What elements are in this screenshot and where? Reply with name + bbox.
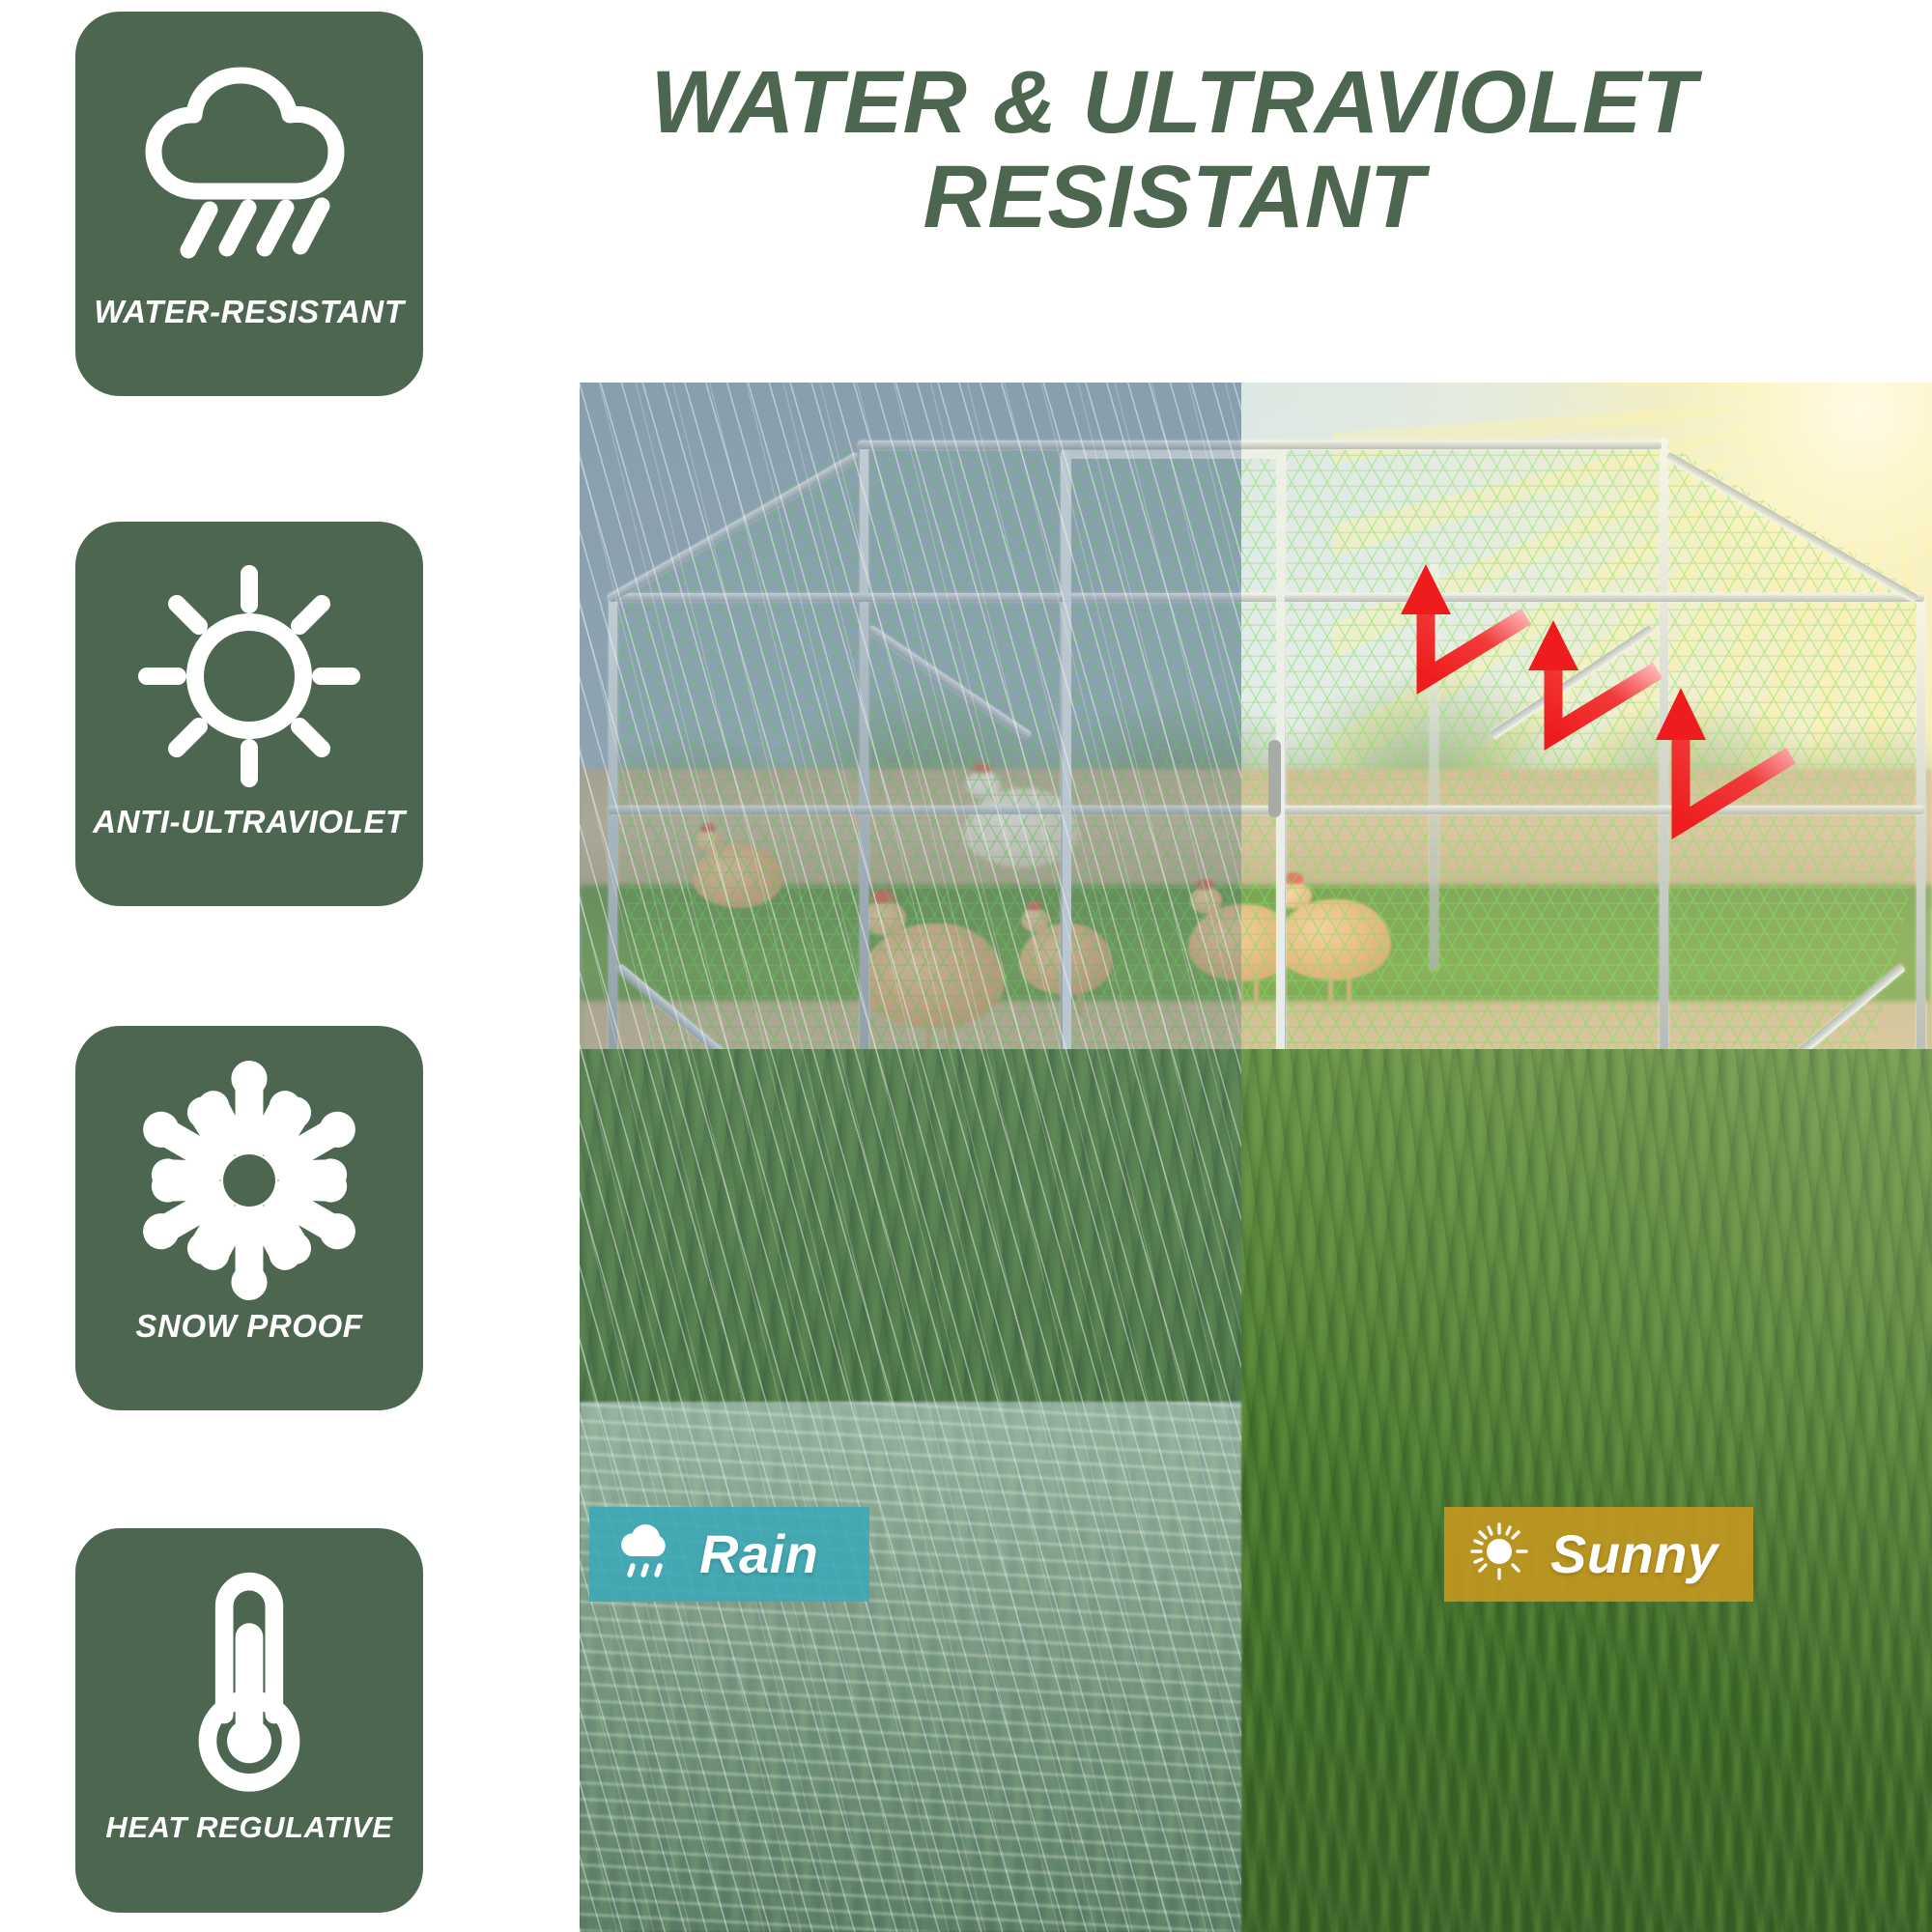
- weather-chip-sunny: Sunny: [1444, 1507, 1753, 1602]
- page-title: WATER & ULTRAVIOLET RESISTANT: [454, 56, 1893, 244]
- rain-cloud-icon: [614, 1521, 678, 1586]
- sun-icon: [120, 554, 379, 798]
- weather-chip-label: Sunny: [1550, 1522, 1719, 1585]
- frame-post: [609, 593, 617, 1088]
- frame-post: [860, 440, 868, 1088]
- frame-post: [1660, 439, 1668, 1088]
- frame-post: [1917, 593, 1925, 1088]
- frame-rail: [858, 440, 1662, 449]
- feature-label: HEAT REGULATIVE: [105, 1810, 392, 1845]
- feature-badge-snow-proof: SNOW PROOF: [75, 1026, 423, 1410]
- door-handle[interactable]: [1268, 740, 1281, 817]
- feature-badge-heat-regulative: HEAT REGULATIVE: [75, 1528, 423, 1913]
- frame-post: [1430, 564, 1438, 970]
- feature-label: SNOW PROOF: [135, 1308, 362, 1345]
- snowflake-icon: [120, 1059, 379, 1302]
- feature-badge-water-resistant: WATER-RESISTANT: [75, 12, 423, 396]
- feature-label: WATER-RESISTANT: [94, 294, 404, 330]
- coop-door[interactable]: [1063, 450, 1285, 1088]
- feature-label: ANTI-ULTRAVIOLET: [93, 804, 406, 840]
- weather-chip-label: Rain: [699, 1522, 818, 1585]
- feature-badge-column: WATER-RESISTANT ANTI-ULTRAVIOLET: [75, 12, 423, 1924]
- feature-badge-anti-ultraviolet: ANTI-ULTRAVIOLET: [75, 522, 423, 906]
- thermometer-icon: [120, 1561, 379, 1804]
- chicken-coop: [580, 421, 1932, 1136]
- product-photo: Rain: [580, 383, 1932, 1932]
- weather-chip-rain: Rain: [589, 1507, 869, 1602]
- foreground-grass: [580, 1049, 1932, 1932]
- rain-cloud-icon: [120, 44, 379, 288]
- sun-icon: [1469, 1521, 1529, 1586]
